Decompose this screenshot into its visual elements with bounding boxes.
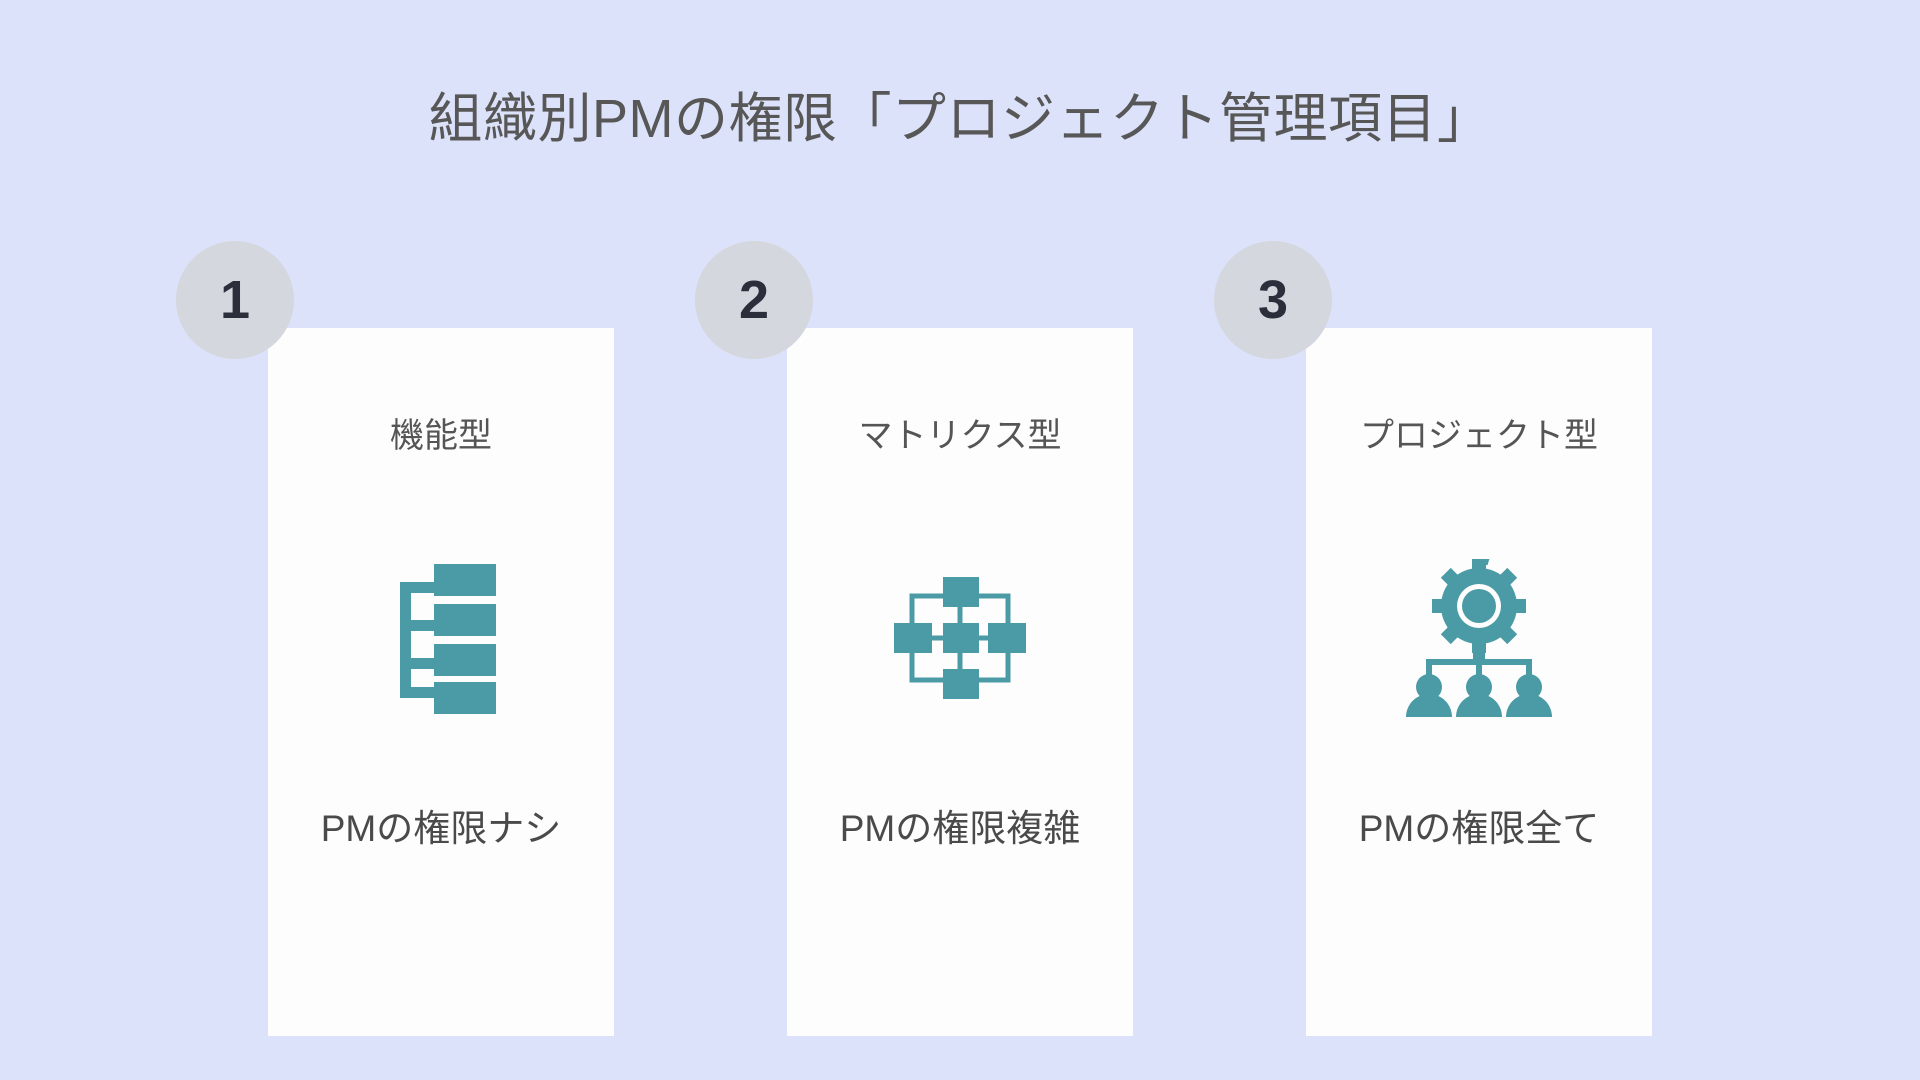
- card-panel[interactable]: 2 マトリクス型: [787, 328, 1133, 1036]
- card-item-2[interactable]: 2 マトリクス型: [787, 318, 1133, 1036]
- page-title: 組織別PMの権限「プロジェクト管理項目」: [0, 86, 1920, 154]
- matrix-network-icon: [787, 543, 1133, 733]
- card-caption: PMの権限ナシ: [268, 798, 614, 852]
- card-number-badge: 1: [176, 241, 294, 359]
- card-title: プロジェクト型: [1306, 408, 1652, 457]
- card-number-badge: 3: [1214, 241, 1332, 359]
- card-title: マトリクス型: [787, 408, 1133, 457]
- card-title: 機能型: [268, 408, 614, 457]
- card-item-3[interactable]: 3 プロジェクト型: [1306, 318, 1652, 1036]
- gear-team-icon: [1306, 543, 1652, 733]
- slide-root: 組織別PMの権限「プロジェクト管理項目」 1 機能型: [0, 0, 1920, 1080]
- card-number-badge: 2: [695, 241, 813, 359]
- card-panel[interactable]: 3 プロジェクト型: [1306, 328, 1652, 1036]
- card-caption: PMの権限全て: [1306, 798, 1652, 852]
- card-group: 1 機能型: [0, 318, 1920, 1038]
- card-panel[interactable]: 1 機能型: [268, 328, 614, 1036]
- card-item-1[interactable]: 1 機能型: [268, 318, 614, 1036]
- hierarchy-list-icon: [268, 543, 614, 733]
- card-caption: PMの権限複雑: [787, 798, 1133, 852]
